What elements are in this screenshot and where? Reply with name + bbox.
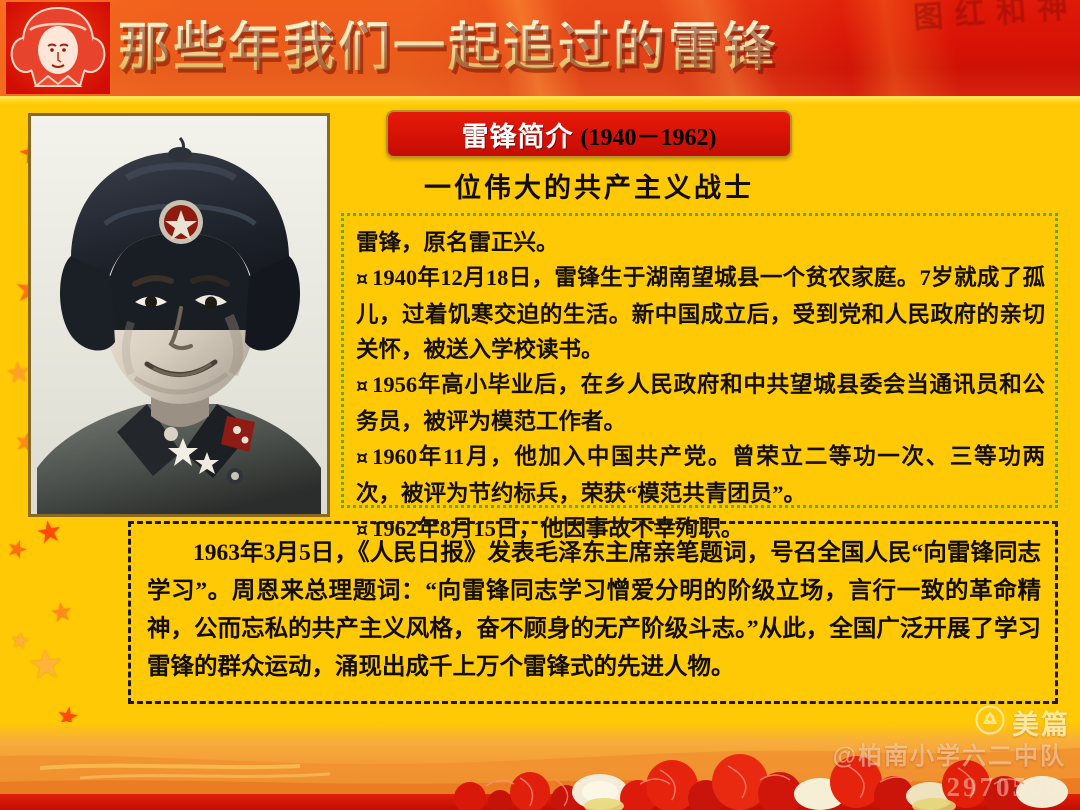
section-title-plaque: 雷锋简介 (1940－1962) bbox=[386, 110, 792, 158]
star-icon: ★ bbox=[34, 516, 66, 550]
biography-line-text: 1956年高小毕业后，在乡人民政府和中共望城县委会当通讯员和公务员，被评为模范工… bbox=[356, 372, 1045, 434]
biography-line-text: 1960年11月，他加入中国共产党。曾荣立二等功一次、三等功两次，被评为节约标兵… bbox=[356, 444, 1045, 506]
bullet-marker-icon: ¤ bbox=[356, 268, 372, 290]
biography-line: 雷锋，原名雷正兴。 bbox=[356, 225, 1045, 260]
plaque-title-text: 雷锋简介 bbox=[462, 115, 574, 154]
biography-lines: 雷锋，原名雷正兴。¤1940年12月18日，雷锋生于湖南望城县一个贫农家庭。7岁… bbox=[356, 225, 1045, 548]
star-icon: ★ bbox=[27, 644, 66, 686]
biography-line-text: 1940年12月18日，雷锋生于湖南望城县一个贫农家庭。7岁就成了孤儿，过着饥寒… bbox=[356, 265, 1045, 362]
bullet-marker-icon: ¤ bbox=[356, 375, 372, 397]
biography-textbox: 雷锋，原名雷正兴。¤1940年12月18日，雷锋生于湖南望城县一个贫农家庭。7岁… bbox=[341, 213, 1058, 508]
star-icon: ★ bbox=[48, 599, 75, 628]
biography-line: ¤1956年高小毕业后，在乡人民政府和中共望城县委会当通讯员和公务员，被评为模范… bbox=[356, 367, 1045, 439]
quote-textbox: 1963年3月5日，《人民日报》发表毛泽东主席亲笔题词，号召全国人民“向雷锋同志… bbox=[128, 521, 1058, 704]
biography-line-text: 雷锋，原名雷正兴。 bbox=[356, 230, 559, 255]
banner-title: 那些年我们一起追过的雷锋 bbox=[118, 14, 778, 82]
bottom-flower-decoration bbox=[0, 722, 1080, 810]
biography-line: ¤1960年11月，他加入中国共产党。曾荣立二等功一次、三等功两次，被评为节约标… bbox=[356, 439, 1045, 511]
quote-paragraph: 1963年3月5日，《人民日报》发表毛泽东主席亲笔题词，号召全国人民“向雷锋同志… bbox=[147, 534, 1041, 686]
leifeng-portrait-badge-icon bbox=[6, 2, 110, 94]
biography-line: ¤1940年12月18日，雷锋生于湖南望城县一个贫农家庭。7岁就成了孤儿，过着饥… bbox=[356, 260, 1045, 367]
leifeng-portrait-photo bbox=[28, 113, 330, 517]
plaque-years-text: (1940－1962) bbox=[581, 117, 717, 152]
header-banner: 图 红 和 神 bbox=[0, 0, 1080, 96]
gold-divider-strip bbox=[0, 96, 1080, 105]
subtitle-text: 一位伟大的共产主义战士 bbox=[386, 166, 792, 205]
calligraphy-watermark: 图 红 和 神 bbox=[814, 0, 1075, 96]
star-icon: ★ bbox=[9, 629, 31, 653]
poster-root: 图 红 和 神 bbox=[0, 0, 1080, 810]
bullet-marker-icon: ¤ bbox=[356, 447, 372, 469]
star-icon: ★ bbox=[3, 535, 31, 564]
